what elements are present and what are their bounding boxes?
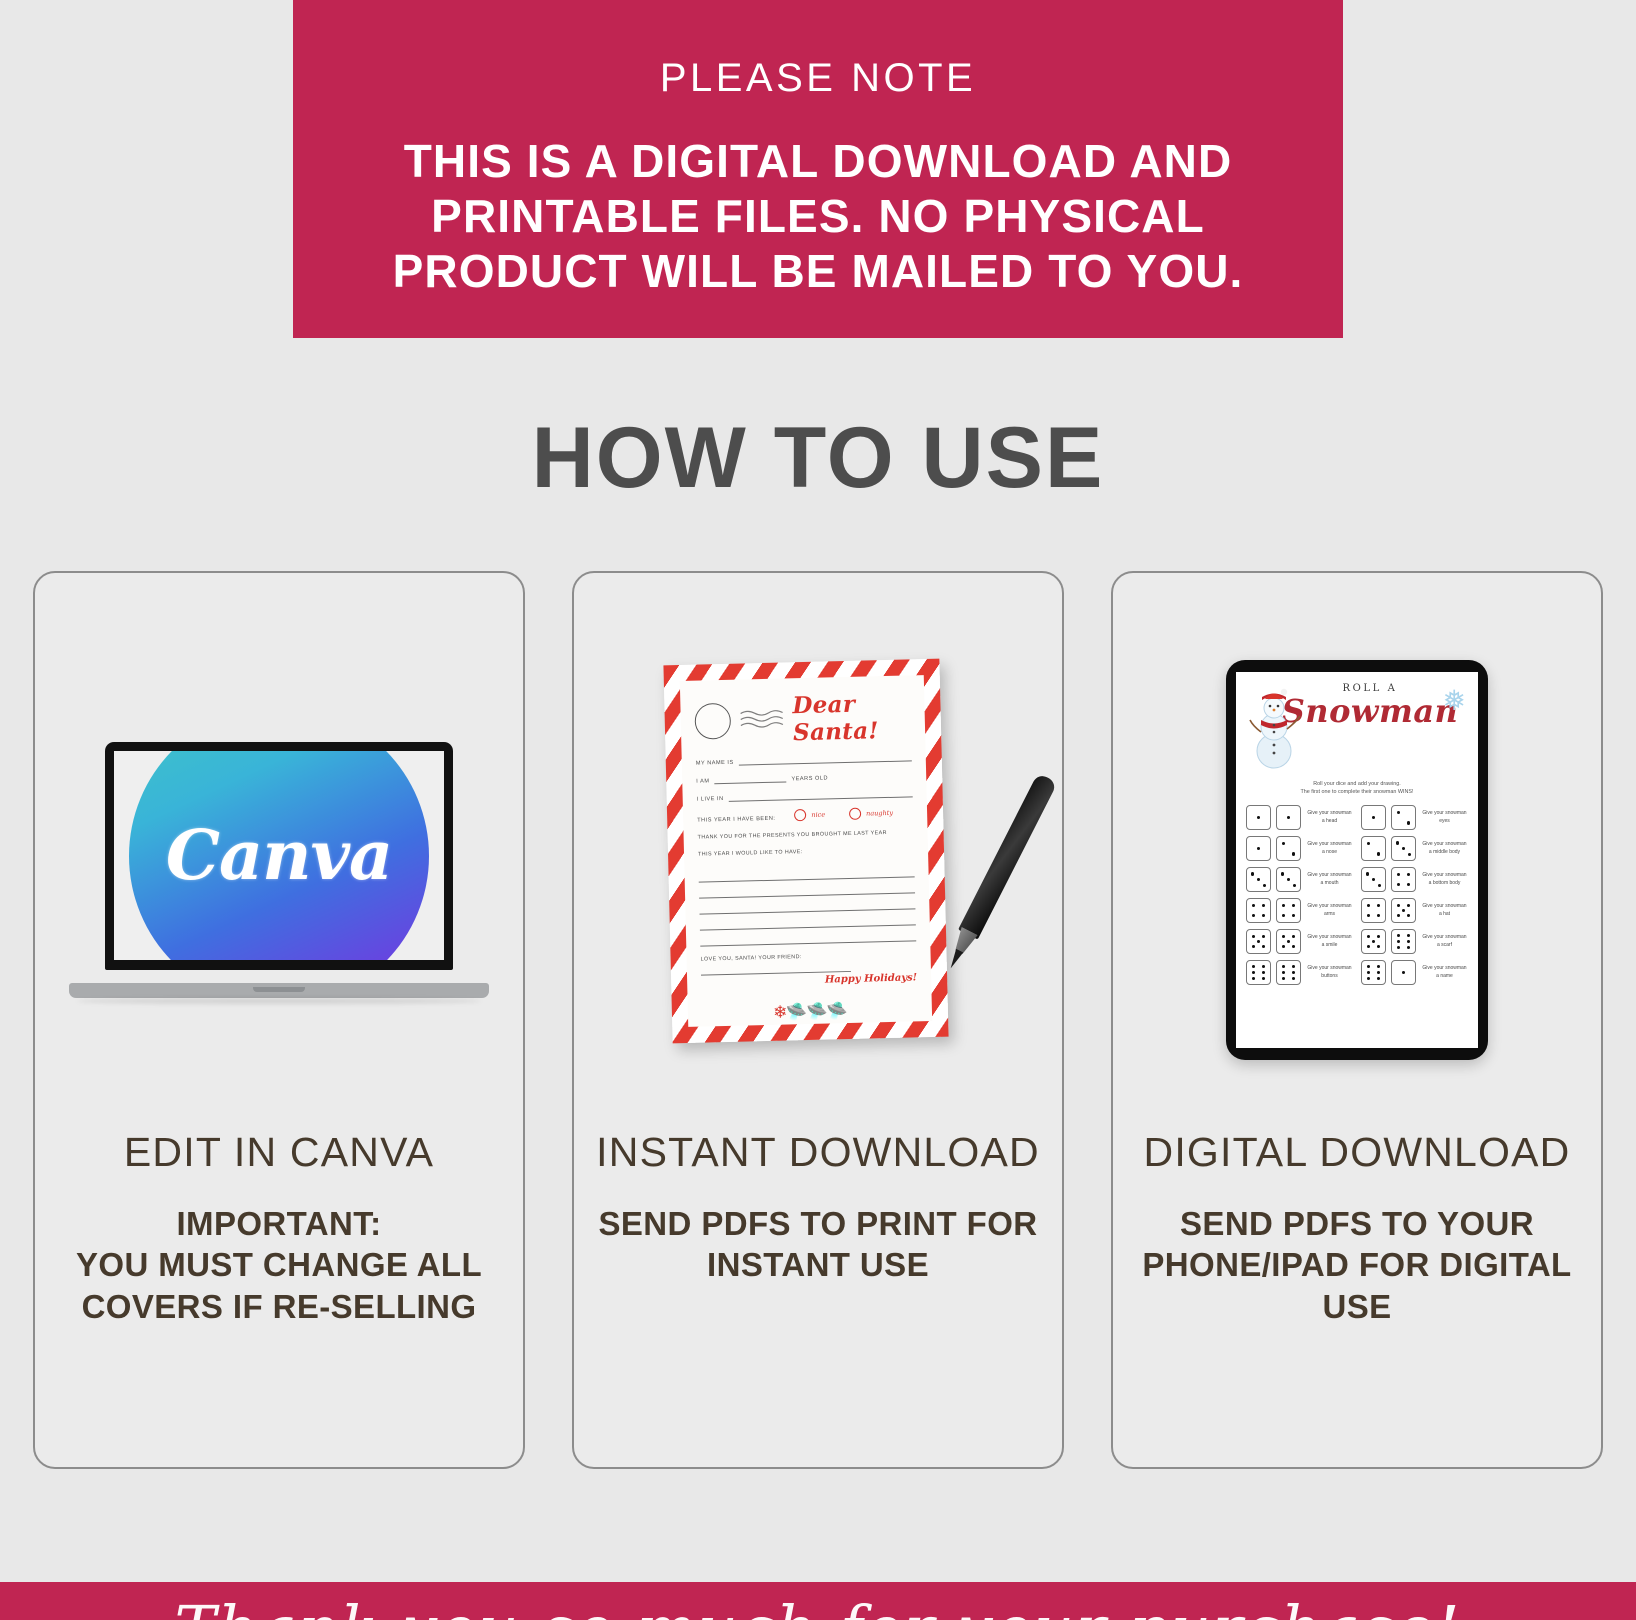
die-pip: [1252, 977, 1255, 980]
die-pip: [1367, 965, 1370, 968]
die-pip: [1397, 811, 1400, 814]
pen-body: [958, 773, 1058, 940]
laptop-screen: Canva: [105, 742, 453, 970]
die-face-6: [1246, 960, 1271, 985]
die-face-6: [1391, 929, 1416, 954]
die-face-4: [1276, 898, 1301, 923]
dice-rule-label: Give your snowman arms: [1306, 903, 1353, 918]
dice-rule-label: Give your snowman a head: [1306, 810, 1353, 825]
field-i-live-in: I LIVE IN: [697, 788, 913, 802]
die-pip: [1287, 816, 1290, 819]
die-pip: [1378, 884, 1381, 887]
die-pip: [1367, 904, 1370, 907]
radio-circle-icon[interactable]: [794, 809, 806, 821]
field-line[interactable]: [739, 752, 912, 765]
tablet-snowman-visual: ❅ ROLL A Snowman Roll your dice and add …: [1113, 573, 1601, 1133]
field-i-am-years-old: I AM YEARS OLD: [696, 770, 912, 784]
die-face-3: [1361, 867, 1386, 892]
snowman-sheet-header: ❅ ROLL A Snowman: [1246, 683, 1468, 775]
dice-rule-row: Give your snowman a head: [1246, 805, 1353, 830]
airmail-envelope-letter: Dear Santa! MY NAME IS I AM YEARS OLD: [663, 659, 948, 1044]
die-pip: [1292, 914, 1295, 917]
tablet-screen: ❅ ROLL A Snowman Roll your dice and add …: [1236, 672, 1478, 1048]
die-pip: [1397, 904, 1400, 907]
die-pip: [1367, 914, 1370, 917]
die-pip: [1257, 940, 1260, 943]
dice-rule-label: Give your snowman a middle body: [1421, 841, 1468, 856]
die-pip: [1292, 935, 1295, 938]
card-instant-download[interactable]: Dear Santa! MY NAME IS I AM YEARS OLD: [572, 571, 1064, 1469]
dice-rule-label: Give your snowman a hat: [1421, 903, 1468, 918]
die-pip: [1262, 945, 1265, 948]
card-title-instant-download: INSTANT DOWNLOAD: [596, 1127, 1040, 1177]
die-face-5: [1276, 929, 1301, 954]
dice-rule-label: Give your snowman a nose: [1306, 841, 1353, 856]
die-pip: [1292, 965, 1295, 968]
letter-paper: Dear Santa! MY NAME IS I AM YEARS OLD: [680, 675, 932, 1027]
tablet-icon: ❅ ROLL A Snowman Roll your dice and add …: [1226, 660, 1488, 1060]
die-pip: [1282, 842, 1285, 845]
postmark-circle-icon: [694, 703, 731, 740]
dice-rule-row: Give your snowman a middle body: [1361, 836, 1468, 861]
die-face-6: [1361, 960, 1386, 985]
dice-rule-row: Give your snowman a nose: [1246, 836, 1353, 861]
die-pip: [1397, 914, 1400, 917]
nice-naughty-options: nice naughty: [794, 807, 893, 821]
die-pip: [1262, 935, 1265, 938]
page-title: HOW TO USE: [0, 415, 1636, 501]
dice-rule-row: Give your snowman buttons: [1246, 960, 1353, 985]
die-pip: [1292, 971, 1295, 974]
letter-header: Dear Santa!: [694, 689, 911, 748]
please-note-banner: PLEASE NOTE THIS IS A DIGITAL DOWNLOAD A…: [293, 0, 1343, 338]
die-pip: [1293, 884, 1296, 887]
dice-rule-label: Give your snowman a scarf: [1421, 934, 1468, 949]
card-subtitle-instant-download: SEND PDFS TO PRINT FOR INSTANT USE: [574, 1203, 1062, 1286]
dice-rule-row: Give your snowman a smile: [1246, 929, 1353, 954]
laptop-notch: [253, 987, 305, 992]
die-pip: [1282, 977, 1285, 980]
die-pip: [1402, 847, 1405, 850]
dice-rule-label: Give your snowman eyes: [1421, 810, 1468, 825]
how-to-use-card-row: Canva EDIT IN CANVA IMPORTANT: YOU MUST …: [33, 571, 1603, 1471]
card-title-digital-download: DIGITAL DOWNLOAD: [1144, 1127, 1571, 1177]
dice-rule-row: Give your snowman a name: [1361, 960, 1468, 985]
die-pip: [1282, 965, 1285, 968]
die-pip: [1377, 914, 1380, 917]
die-pip: [1292, 945, 1295, 948]
die-pip: [1372, 816, 1375, 819]
option-label-naughty: naughty: [866, 809, 893, 818]
note-headline: THIS IS A DIGITAL DOWNLOAD AND PRINTABLE…: [353, 134, 1283, 300]
thanks-line: THANK YOU FOR THE PRESENTS YOU BROUGHT M…: [698, 829, 914, 840]
die-pip: [1396, 841, 1399, 844]
field-label-i-am: I AM: [696, 778, 709, 784]
card-sub-emphasis: IMPORTANT:: [35, 1203, 523, 1244]
dice-rule-row: Give your snowman a scarf: [1361, 929, 1468, 954]
letter-with-pen: Dear Santa! MY NAME IS I AM YEARS OLD: [668, 662, 968, 1062]
note-kicker: PLEASE NOTE: [660, 58, 976, 98]
card-title-edit-in-canva: EDIT IN CANVA: [124, 1127, 434, 1177]
dice-rule-row: Give your snowman arms: [1246, 898, 1353, 923]
die-face-4: [1246, 898, 1271, 923]
die-face-2: [1391, 805, 1416, 830]
die-face-1: [1246, 805, 1271, 830]
pen-icon: [940, 773, 1057, 975]
die-pip: [1367, 971, 1370, 974]
card-digital-download[interactable]: ❅ ROLL A Snowman Roll your dice and add …: [1111, 571, 1603, 1469]
die-face-1: [1276, 805, 1301, 830]
die-pip: [1367, 935, 1370, 938]
die-pip: [1262, 965, 1265, 968]
die-pip: [1252, 914, 1255, 917]
die-pip: [1367, 977, 1370, 980]
field-label-been: THIS YEAR I HAVE BEEN:: [697, 816, 775, 824]
die-face-2: [1361, 836, 1386, 861]
field-label-i-live-in: I LIVE IN: [697, 796, 724, 803]
die-face-6: [1276, 960, 1301, 985]
die-pip: [1407, 946, 1410, 949]
snowflake-icon: ❅: [1443, 687, 1466, 715]
instructions-line-1: Roll your dice and add your drawing.: [1246, 780, 1468, 788]
card-subtitle-edit-in-canva: IMPORTANT: YOU MUST CHANGE ALL COVERS IF…: [35, 1203, 523, 1327]
die-pip: [1407, 914, 1410, 917]
option-label-nice: nice: [811, 811, 825, 819]
die-pip: [1252, 935, 1255, 938]
die-face-3: [1246, 867, 1271, 892]
dice-rule-label: Give your snowman a name: [1421, 965, 1468, 980]
option-nice[interactable]: nice: [794, 809, 825, 822]
die-pip: [1377, 965, 1380, 968]
die-pip: [1407, 873, 1410, 876]
die-pip: [1377, 977, 1380, 980]
card-edit-in-canva[interactable]: Canva EDIT IN CANVA IMPORTANT: YOU MUST …: [33, 571, 525, 1469]
dice-rule-row: Give your snowman a mouth: [1246, 867, 1353, 892]
die-pip: [1262, 971, 1265, 974]
dear-santa-heading: Dear Santa!: [792, 689, 911, 746]
die-pip: [1282, 971, 1285, 974]
die-pip: [1257, 878, 1260, 881]
die-face-5: [1361, 929, 1386, 954]
die-pip: [1252, 965, 1255, 968]
option-naughty[interactable]: naughty: [849, 807, 893, 820]
die-pip: [1251, 872, 1254, 875]
radio-circle-icon[interactable]: [849, 808, 861, 820]
dice-rule-row: Give your snowman a bottom body: [1361, 867, 1468, 892]
die-pip: [1372, 878, 1375, 881]
die-pip: [1377, 935, 1380, 938]
snowman-instructions: Roll your dice and add your drawing. The…: [1246, 780, 1468, 796]
die-pip: [1262, 977, 1265, 980]
die-pip: [1257, 847, 1260, 850]
die-pip: [1282, 914, 1285, 917]
die-pip: [1402, 909, 1405, 912]
dice-rule-row: Give your snowman a hat: [1361, 898, 1468, 923]
die-pip: [1263, 884, 1266, 887]
die-face-1: [1391, 960, 1416, 985]
field-been-nice-or-naughty: THIS YEAR I HAVE BEEN: nice naughty: [697, 806, 913, 823]
field-label-my-name-is: MY NAME IS: [696, 760, 734, 767]
die-pip: [1262, 914, 1265, 917]
die-face-4: [1391, 867, 1416, 892]
field-my-name-is: MY NAME IS: [696, 752, 912, 766]
die-pip: [1397, 946, 1400, 949]
footer-banner: Thank you so much for your purchase!: [0, 1582, 1636, 1620]
die-pip: [1257, 816, 1260, 819]
die-pip: [1281, 872, 1284, 875]
card-subtitle-digital-download: SEND PDFS TO YOUR PHONE/IPAD FOR DIGITAL…: [1113, 1203, 1601, 1327]
postmark-waves-icon: [738, 706, 785, 733]
dice-rule-label: Give your snowman a smile: [1306, 934, 1353, 949]
laptop-shadow: [77, 998, 481, 1004]
die-pip: [1252, 904, 1255, 907]
wish-writing-lines[interactable]: [698, 861, 916, 946]
die-pip: [1407, 821, 1410, 824]
footer-script-text: Thank you so much for your purchase!: [0, 1592, 1636, 1620]
dice-rules-grid: Give your snowman a headGive your snowma…: [1246, 805, 1468, 985]
die-pip: [1367, 842, 1370, 845]
reindeer-sleigh-icon: ❄🛸🛸🛸: [688, 1000, 932, 1023]
die-face-5: [1246, 929, 1271, 954]
die-face-1: [1246, 836, 1271, 861]
die-pip: [1397, 873, 1400, 876]
die-pip: [1397, 934, 1400, 937]
die-face-2: [1276, 836, 1301, 861]
die-pip: [1292, 904, 1295, 907]
die-pip: [1252, 971, 1255, 974]
die-pip: [1397, 883, 1400, 886]
die-pip: [1407, 934, 1410, 937]
happy-holidays-text: Happy Holidays!: [825, 972, 917, 985]
laptop-display: Canva: [114, 751, 444, 960]
signature-line[interactable]: [701, 959, 851, 976]
die-pip: [1408, 853, 1411, 856]
field-line[interactable]: [728, 788, 912, 801]
die-pip: [1287, 878, 1290, 881]
die-pip: [1407, 940, 1410, 943]
die-pip: [1407, 883, 1410, 886]
die-pip: [1287, 940, 1290, 943]
snowman-icon: [1248, 685, 1304, 771]
canva-wordmark: Canva: [114, 751, 444, 960]
die-pip: [1262, 904, 1265, 907]
die-pip: [1282, 904, 1285, 907]
die-pip: [1366, 872, 1369, 875]
die-pip: [1252, 945, 1255, 948]
dice-rule-label: Give your snowman buttons: [1306, 965, 1353, 980]
die-pip: [1292, 852, 1295, 855]
die-face-4: [1361, 898, 1386, 923]
instructions-line-2: The first one to complete their snowman …: [1246, 788, 1468, 796]
pen-tip: [947, 949, 963, 970]
die-pip: [1397, 940, 1400, 943]
die-pip: [1282, 945, 1285, 948]
die-pip: [1377, 904, 1380, 907]
field-line-age[interactable]: [714, 773, 786, 784]
die-face-3: [1391, 836, 1416, 861]
die-pip: [1377, 971, 1380, 974]
die-face-5: [1391, 898, 1416, 923]
die-pip: [1292, 977, 1295, 980]
die-pip: [1402, 971, 1405, 974]
die-pip: [1377, 945, 1380, 948]
die-pip: [1282, 935, 1285, 938]
die-pip: [1372, 940, 1375, 943]
canva-laptop-visual: Canva: [35, 573, 523, 1133]
dice-rule-label: Give your snowman a mouth: [1306, 872, 1353, 887]
die-pip: [1377, 852, 1380, 855]
die-pip: [1407, 904, 1410, 907]
die-pip: [1367, 945, 1370, 948]
card-sub-body: YOU MUST CHANGE ALL COVERS IF RE-SELLING: [76, 1246, 482, 1324]
field-label-years-old: YEARS OLD: [791, 775, 828, 782]
die-face-3: [1276, 867, 1301, 892]
wish-line: THIS YEAR I WOULD LIKE TO HAVE:: [698, 846, 914, 857]
die-face-1: [1361, 805, 1386, 830]
laptop-icon: Canva: [69, 742, 489, 1010]
dice-rule-label: Give your snowman a bottom body: [1421, 872, 1468, 887]
santa-letter-visual: Dear Santa! MY NAME IS I AM YEARS OLD: [574, 573, 1062, 1133]
dice-rule-row: Give your snowman eyes: [1361, 805, 1468, 830]
